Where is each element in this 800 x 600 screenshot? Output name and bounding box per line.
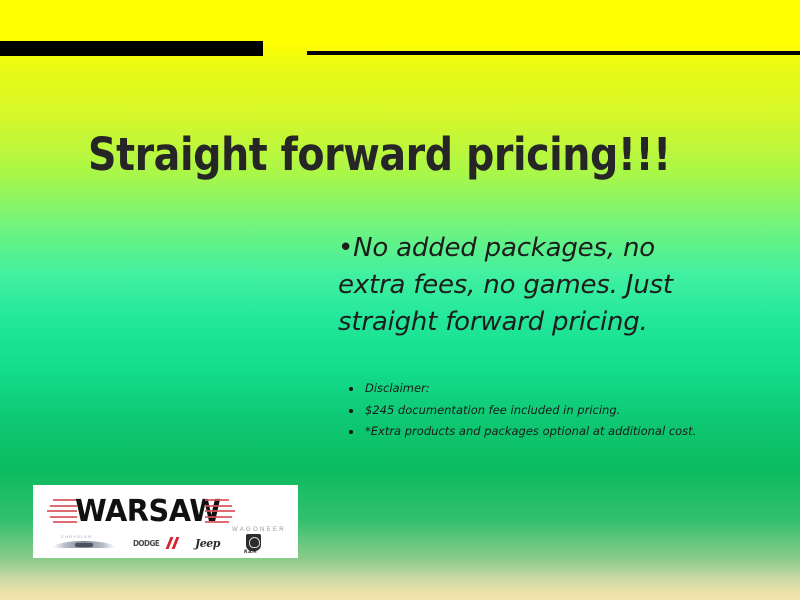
ram-shield-icon (246, 534, 261, 551)
slide-title: Straight forward pricing!!! (88, 128, 678, 181)
chrysler-logo-icon: CHRYSLER (53, 533, 115, 555)
dodge-label: DODGE (133, 539, 159, 548)
jeep-label: Jeep (195, 537, 220, 550)
chrysler-label: CHRYSLER (61, 534, 92, 539)
jeep-logo-icon: Jeep (195, 533, 231, 555)
speed-lines-left-icon (47, 499, 77, 523)
slide-canvas: Straight forward pricing!!! •No added pa… (0, 0, 800, 600)
logo-wordmark: WARSAW (75, 494, 221, 529)
ram-logo-icon: RAM (243, 533, 267, 555)
list-item: Disclaimer: (345, 381, 745, 397)
dodge-logo-icon: DODGE (133, 533, 185, 555)
brand-logo-row: CHRYSLER DODGE Jeep RAM (47, 533, 237, 555)
list-item: $245 documentation fee included in prici… (345, 403, 745, 419)
dodge-stripes-icon (167, 537, 182, 549)
header-rule-thick (0, 41, 263, 56)
list-item: *Extra products and packages optional at… (345, 424, 745, 440)
speed-lines-right-icon (205, 499, 235, 523)
dealership-logo-card: WARSAW WAGONEER CHRYSLER DODGE Jeep (33, 485, 298, 558)
disclaimer-list: Disclaimer: $245 documentation fee inclu… (345, 381, 745, 446)
header-rule-thin (307, 51, 800, 55)
ram-label: RAM (244, 550, 257, 555)
slide-lead-paragraph: •No added packages, no extra fees, no ga… (338, 230, 686, 341)
logo-wordmark-row: WARSAW (33, 494, 233, 527)
chrysler-wing-icon (53, 541, 115, 548)
